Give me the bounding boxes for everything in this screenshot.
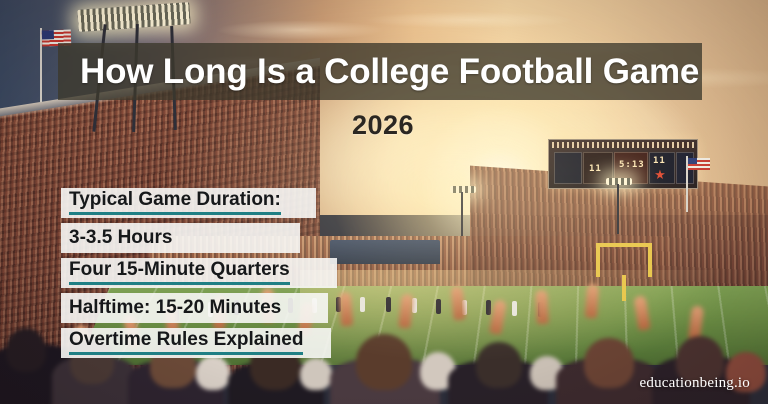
bullet-list: Typical Game Duration: 3-3.5 Hours Four … — [61, 188, 337, 358]
list-item-label: Halftime: 15-20 Minutes — [69, 298, 281, 317]
site-watermark: educationbeing.io — [640, 375, 750, 392]
press-box-roof — [330, 240, 440, 264]
scoreboard-home-score: 11 — [589, 164, 602, 174]
list-item: Four 15-Minute Quarters — [61, 258, 337, 288]
year-label: 2026 — [352, 112, 414, 139]
bottom-letterbox — [0, 404, 768, 419]
list-item-label: Typical Game Duration: — [69, 190, 281, 215]
list-item-label: 3-3.5 Hours — [69, 228, 172, 247]
list-item-label: Overtime Rules Explained — [69, 330, 303, 355]
list-item: Halftime: 15-20 Minutes — [61, 293, 328, 323]
title-banner: How Long Is a College Football Game — [58, 43, 702, 100]
raised-hand — [633, 295, 650, 330]
raised-hand — [585, 284, 599, 319]
american-flag-icon-right — [688, 158, 710, 170]
raised-hand — [535, 290, 549, 325]
list-item: Overtime Rules Explained — [61, 328, 331, 358]
list-item: Typical Game Duration: — [61, 188, 316, 218]
list-item: 3-3.5 Hours — [61, 223, 300, 253]
raised-hand — [339, 292, 353, 327]
scoreboard-clock: 5:13 — [619, 160, 645, 170]
page-title: How Long Is a College Football Game — [58, 54, 699, 89]
stadium-light-tower-mid — [448, 186, 478, 236]
poster-canvas: 11 5:13 11 ★ — [0, 0, 768, 419]
star-icon: ★ — [653, 168, 667, 182]
raised-hand — [489, 299, 507, 335]
list-item-label: Four 15-Minute Quarters — [69, 260, 290, 285]
scoreboard-ticker — [552, 142, 694, 148]
scoreboard-away-score: 11 — [653, 156, 666, 166]
raised-hand — [398, 293, 413, 328]
stadium-light-tower-right — [604, 178, 634, 234]
